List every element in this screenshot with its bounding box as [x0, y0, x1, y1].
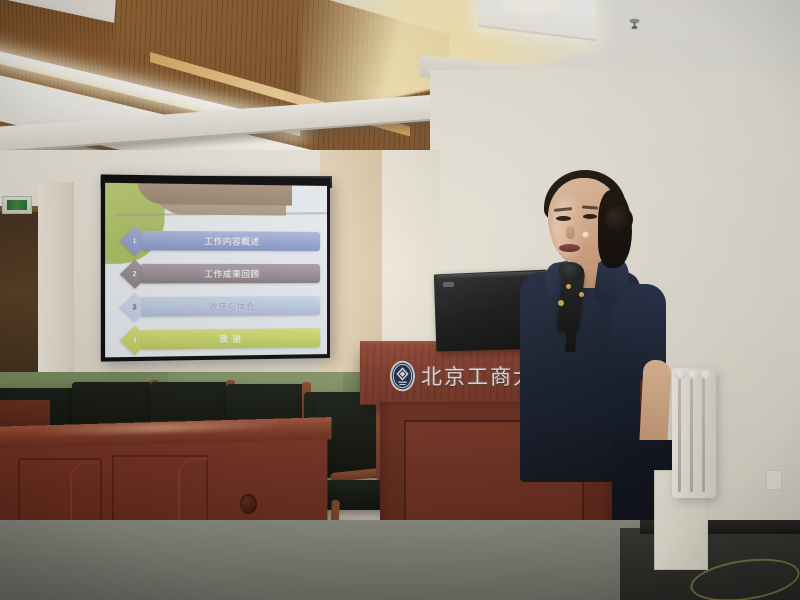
- agenda-number: 4: [133, 336, 137, 343]
- wall-outlet: [766, 470, 782, 490]
- presenter-eye-right: [583, 214, 597, 219]
- table-cable-grommet: [240, 494, 257, 514]
- list-item: 2 工作成果回顾: [124, 262, 320, 286]
- agenda-label: 工作成果回顾: [204, 267, 259, 279]
- presenter-earring: [583, 232, 588, 237]
- emergency-exit-sign: [2, 196, 32, 214]
- slide-agenda-list: 1 工作内容概述 2 工作成果回顾 3: [124, 229, 320, 358]
- presenter-nose: [566, 226, 575, 239]
- agenda-label-bar: 工作内容概述: [141, 231, 320, 251]
- ceiling-sprinkler-icon: [628, 18, 641, 30]
- agenda-number: 1: [133, 237, 137, 244]
- presenter-hair-bun: [605, 206, 633, 233]
- photo-scene: 1 工作内容概述 2 工作成果回顾 3: [0, 0, 800, 600]
- presenter-eye-left: [556, 216, 571, 221]
- list-item: 3 收获与体会: [124, 294, 320, 319]
- agenda-number: 3: [133, 303, 137, 310]
- presenter-mouth: [559, 244, 580, 252]
- garment-button: [579, 292, 584, 297]
- agenda-label-bar: 工作成果回顾: [141, 264, 320, 284]
- list-item: 1 工作内容概述: [124, 229, 320, 253]
- agenda-label: 致谢: [219, 332, 245, 345]
- agenda-label: 工作内容概述: [204, 235, 259, 247]
- list-item: 4 致谢: [124, 326, 320, 352]
- wall-radiator: [672, 368, 716, 498]
- projection-screen: 1 工作内容概述 2 工作成果回顾 3: [101, 174, 330, 361]
- agenda-label-bar: 致谢: [141, 328, 320, 350]
- projected-slide: 1 工作内容概述 2 工作成果回顾 3: [105, 183, 327, 358]
- garment-button: [558, 300, 564, 306]
- agenda-number: 2: [133, 270, 137, 277]
- laptop-logo: [443, 282, 454, 287]
- university-emblem-icon: [389, 360, 416, 392]
- agenda-label: 收获与体会: [209, 300, 255, 313]
- garment-button: [566, 284, 571, 289]
- agenda-label-bar: 收获与体会: [141, 296, 320, 317]
- table-carving: [178, 458, 208, 524]
- slide-divider-line: [116, 212, 327, 216]
- slide-tan-shape: [137, 183, 292, 206]
